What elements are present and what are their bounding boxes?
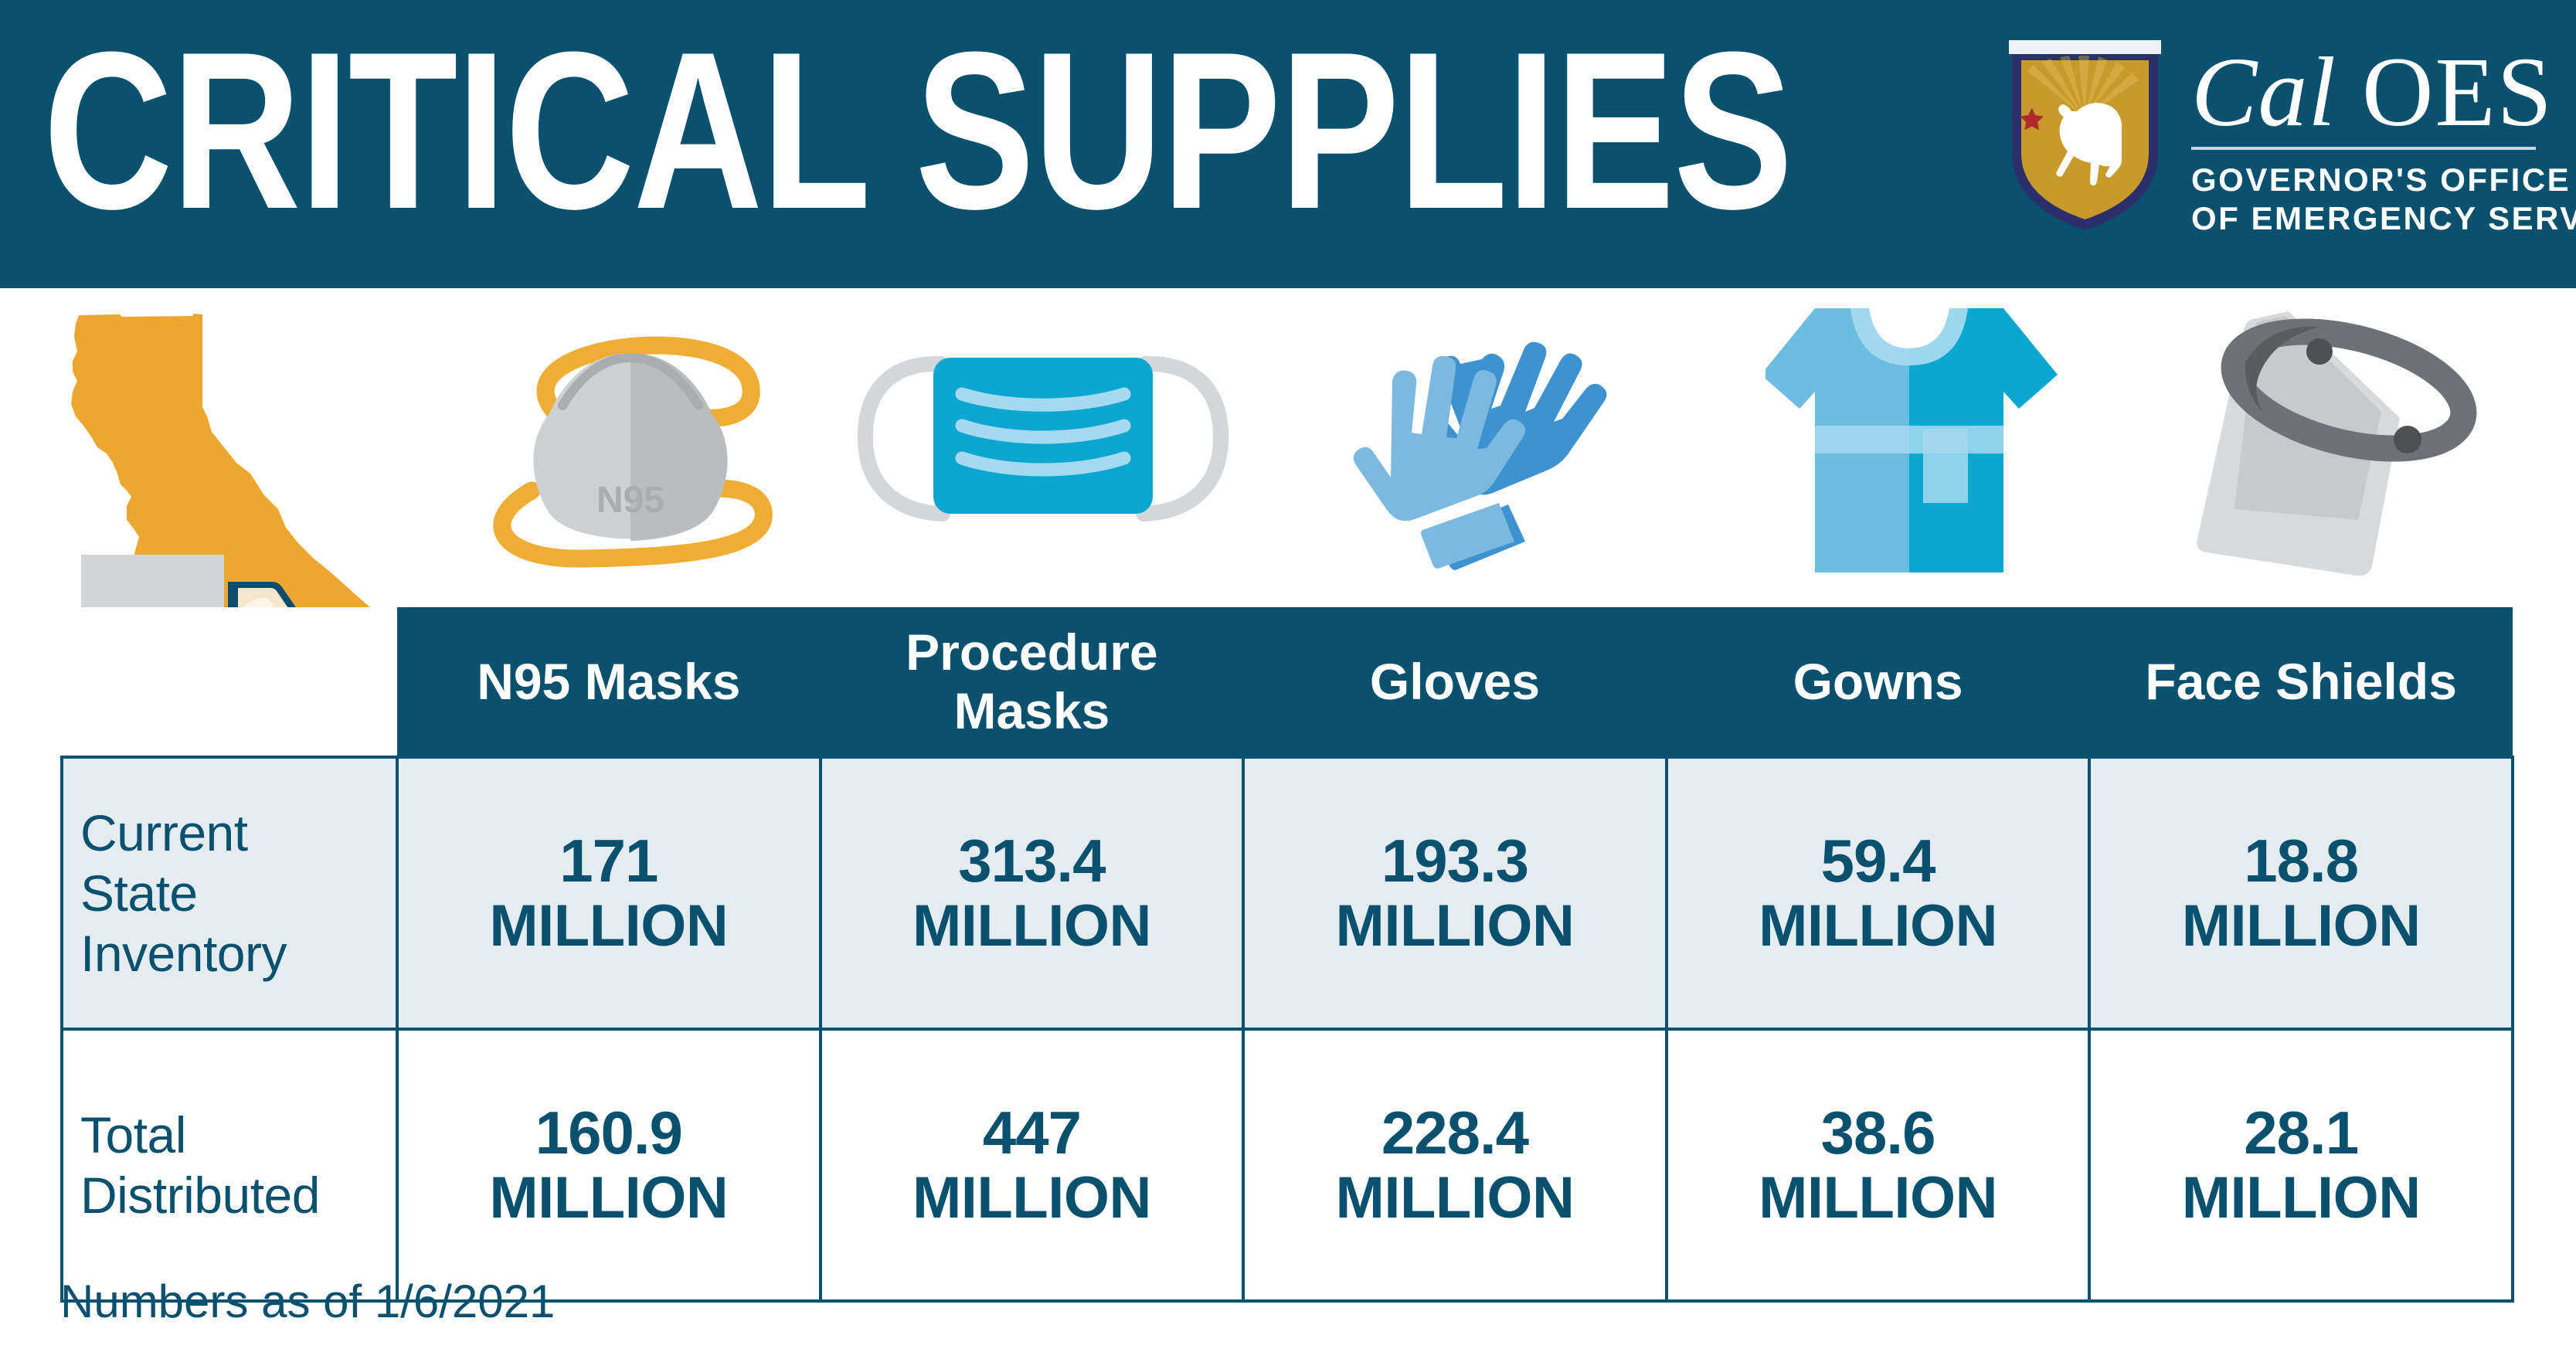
glove-front	[1354, 356, 1526, 569]
table-row: Total Distributed 160.9 MILLION 447 MILL…	[62, 1029, 2513, 1301]
row-label-line: State	[80, 863, 395, 923]
table-header-row: N95 Masks Procedure Masks Gloves Gowns F…	[62, 607, 2513, 757]
header-cell-face-shields: Face Shields	[2089, 607, 2513, 757]
header-cell-blank	[62, 607, 397, 757]
table-row: Current State Inventory 171 MILLION 313.…	[62, 757, 2513, 1029]
cell-distributed-face-shields: 28.1 MILLION	[2089, 1029, 2513, 1301]
procedure-mask-icon	[842, 288, 1244, 597]
svg-text:N95: N95	[596, 480, 664, 521]
caloes-shield-icon	[2006, 37, 2164, 234]
header-cell-gloves: Gloves	[1243, 607, 1667, 757]
value-number: 28.1	[2095, 1099, 2506, 1166]
logo-oes-text: OES	[2362, 37, 2554, 147]
value-unit: MILLION	[2095, 1166, 2506, 1231]
header-cell-procedure-masks: Procedure Masks	[821, 607, 1244, 757]
face-shield-icon	[2187, 288, 2519, 597]
n95-mask-icon: N95	[445, 288, 816, 597]
caloes-logo: Cal OES GOVERNOR'S OFFICE OF EMERGENCY S…	[2006, 37, 2547, 261]
footnote-date: Numbers as of 1/6/2021	[60, 1276, 555, 1327]
logo-subtitle-line1: GOVERNOR'S OFFICE	[2191, 161, 2539, 199]
cell-inventory-gloves: 193.3 MILLION	[1243, 757, 1667, 1029]
value-unit: MILLION	[1673, 894, 2084, 959]
value-number: 313.4	[827, 827, 1238, 894]
cell-inventory-n95-masks: 171 MILLION	[397, 757, 821, 1029]
row-label-total-distributed: Total Distributed	[62, 1029, 397, 1301]
value-unit: MILLION	[827, 894, 1238, 959]
value-unit: MILLION	[1673, 1166, 2084, 1231]
header-cell-gowns: Gowns	[1667, 607, 2090, 757]
header-cell-n95-masks: N95 Masks	[397, 607, 821, 757]
value-unit: MILLION	[1249, 1166, 1660, 1231]
value-number: 193.3	[1249, 827, 1660, 894]
value-number: 38.6	[1673, 1099, 2084, 1166]
value-number: 18.8	[2095, 827, 2506, 894]
logo-divider	[2191, 147, 2536, 150]
value-number: 160.9	[403, 1099, 814, 1166]
value-unit: MILLION	[1249, 894, 1660, 959]
cell-distributed-n95-masks: 160.9 MILLION	[397, 1029, 821, 1301]
critical-supplies-table: N95 Masks Procedure Masks Gloves Gowns F…	[60, 607, 2511, 1303]
gloves-icon	[1341, 288, 1681, 597]
cell-inventory-gowns: 59.4 MILLION	[1667, 757, 2090, 1029]
caloes-wordmark: Cal OES GOVERNOR'S OFFICE OF EMERGENCY S…	[2191, 42, 2539, 238]
logo-subtitle-line2: OF EMERGENCY SERVICES	[2191, 199, 2539, 238]
cell-distributed-gowns: 38.6 MILLION	[1667, 1029, 2090, 1301]
value-unit: MILLION	[2095, 894, 2506, 959]
cell-distributed-procedure-masks: 447 MILLION	[821, 1029, 1244, 1301]
ppe-icon-strip: N95	[0, 288, 2576, 613]
value-number: 228.4	[1249, 1099, 1660, 1166]
logo-cal-text: Cal	[2191, 37, 2336, 147]
row-label-line: Inventory	[80, 923, 395, 983]
row-label-line: Current	[80, 803, 395, 863]
cell-inventory-face-shields: 18.8 MILLION	[2089, 757, 2513, 1029]
row-label-line: Distributed	[80, 1165, 395, 1225]
row-label-line: Total	[80, 1105, 395, 1165]
row-label-current-state-inventory: Current State Inventory	[62, 757, 397, 1029]
value-unit: MILLION	[403, 894, 814, 959]
gown-icon	[1765, 288, 2090, 597]
value-number: 171	[403, 827, 814, 894]
value-unit: MILLION	[827, 1166, 1238, 1231]
value-number: 59.4	[1673, 827, 2084, 894]
cell-distributed-gloves: 228.4 MILLION	[1243, 1029, 1667, 1301]
value-number: 447	[827, 1099, 1238, 1166]
value-unit: MILLION	[403, 1166, 814, 1231]
page-title: CRITICAL SUPPLIES	[43, 19, 1792, 243]
header-band: CRITICAL SUPPLIES	[0, 0, 2576, 288]
cell-inventory-procedure-masks: 313.4 MILLION	[821, 757, 1244, 1029]
